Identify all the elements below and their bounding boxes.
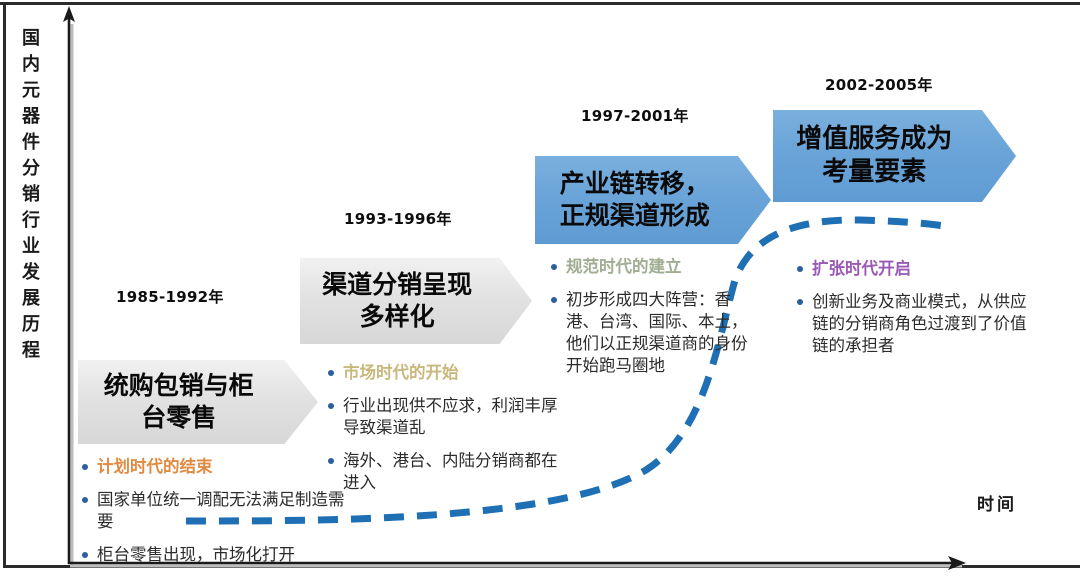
banner-line-2: 台零售 bbox=[78, 402, 280, 434]
banner-line-2: 考量要素 bbox=[773, 156, 975, 189]
list-item: 扩张时代开启 bbox=[795, 258, 1030, 280]
frame-border-top bbox=[0, 2, 1080, 5]
list-item: 规范时代的建立 bbox=[549, 256, 761, 278]
stage-banner: 增值服务成为 考量要素 bbox=[773, 110, 1016, 202]
x-axis-label: 时间 bbox=[977, 490, 1017, 515]
stage-date: 2002-2005年 bbox=[825, 74, 933, 95]
banner-line-1: 产业链转移， bbox=[535, 168, 735, 200]
stage-date: 1993-1996年 bbox=[344, 208, 452, 229]
stage-banner: 统购包销与柜 台零售 bbox=[78, 360, 318, 444]
list-item: 国家单位统一调配无法满足制造需要 bbox=[80, 489, 345, 533]
banner-line-2: 正规渠道形成 bbox=[535, 200, 735, 232]
list-item: 计划时代的结束 bbox=[80, 456, 345, 478]
stage-date: 1985-1992年 bbox=[116, 286, 224, 307]
y-axis-title: 国内元器件分销行业发展历程 bbox=[16, 26, 46, 364]
banner-line-1: 渠道分销呈现 bbox=[300, 269, 494, 301]
stage-date: 1997-2001年 bbox=[581, 105, 689, 126]
stage-bullets: 扩张时代开启 创新业务及商业模式，从供应链的分销商角色过渡到了价值链的承担者 bbox=[795, 258, 1030, 368]
frame-border-left bbox=[3, 2, 6, 568]
banner-line-2: 多样化 bbox=[300, 301, 494, 333]
list-item: 市场时代的开始 bbox=[326, 362, 561, 384]
list-item: 创新业务及商业模式，从供应链的分销商角色过渡到了价值链的承担者 bbox=[795, 291, 1030, 357]
list-item: 行业出现供不应求，利润丰厚导致渠道乱 bbox=[326, 395, 561, 439]
list-item: 柜台零售出现，市场化打开 bbox=[80, 544, 345, 566]
stage-bullets: 规范时代的建立 初步形成四大阵营：香港、台湾、国际、本土，他们以正规渠道商的身份… bbox=[549, 256, 761, 388]
list-item: 海外、港台、内陆分销商都在进入 bbox=[326, 450, 561, 494]
banner-line-1: 统购包销与柜 bbox=[78, 370, 280, 402]
timeline-diagram: 国内元器件分销行业发展历程 时间 1985-1992年 统购包销与柜 台零售 计… bbox=[0, 0, 1080, 584]
stage-bullets: 市场时代的开始 行业出现供不应求，利润丰厚导致渠道乱 海外、港台、内陆分销商都在… bbox=[326, 362, 561, 505]
banner-line-1: 增值服务成为 bbox=[773, 123, 975, 156]
stage-banner: 产业链转移， 正规渠道形成 bbox=[535, 156, 771, 244]
list-item: 初步形成四大阵营：香港、台湾、国际、本土，他们以正规渠道商的身份开始跑马圈地 bbox=[549, 289, 761, 377]
stage-bullets: 计划时代的结束 国家单位统一调配无法满足制造需要 柜台零售出现，市场化打开 bbox=[80, 456, 345, 577]
stage-banner: 渠道分销呈现 多样化 bbox=[300, 258, 532, 344]
